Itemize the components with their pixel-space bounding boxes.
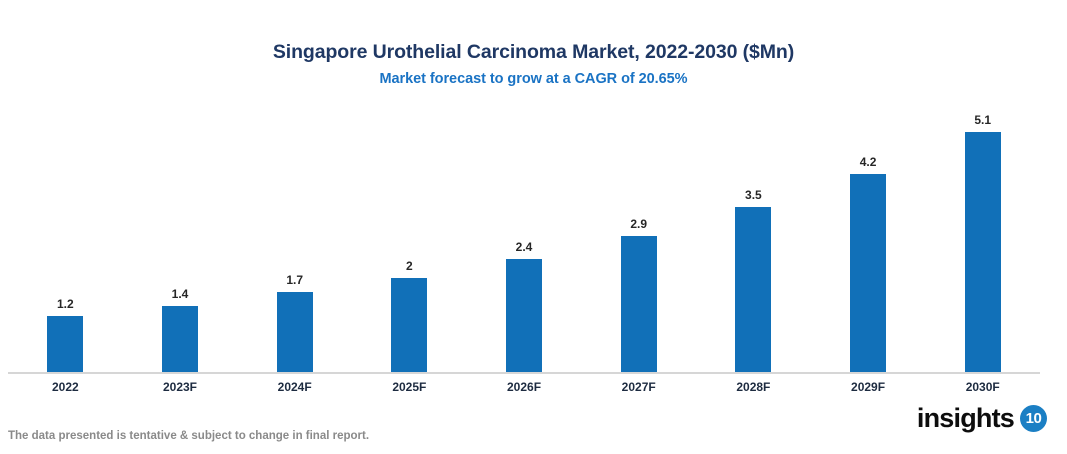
x-axis-tick: 2029F <box>811 378 926 396</box>
bar-rect <box>850 174 886 372</box>
bar-value-label: 1.2 <box>57 298 74 310</box>
x-axis-tick-label: 2027F <box>622 380 656 394</box>
bar-rect <box>965 132 1001 372</box>
bar-rect <box>621 236 657 372</box>
bar-group: 5.1 <box>925 110 1040 372</box>
x-axis-tick-label: 2026F <box>507 380 541 394</box>
bar-value-label: 2.4 <box>516 241 533 253</box>
bar-group: 1.2 <box>8 110 123 372</box>
logo-wordmark: insights <box>917 405 1014 432</box>
x-axis-tick: 2027F <box>581 378 696 396</box>
bar-group: 3.5 <box>696 110 811 372</box>
bar-series: 1.21.41.722.42.93.54.25.1 <box>8 110 1040 372</box>
bar-group: 4.2 <box>811 110 926 372</box>
bar-value-label: 2.9 <box>630 218 647 230</box>
bar-rect <box>277 292 313 372</box>
bar-value-label: 2 <box>406 260 413 272</box>
x-axis-line <box>8 372 1040 374</box>
bar-group: 2.4 <box>467 110 582 372</box>
bar-value-label: 4.2 <box>860 156 877 168</box>
bar-rect <box>391 278 427 372</box>
x-axis-tick: 2025F <box>352 378 467 396</box>
bar-value-label: 1.7 <box>286 274 303 286</box>
x-axis-tick-label: 2024F <box>278 380 312 394</box>
chart-subtitle: Market forecast to grow at a CAGR of 20.… <box>0 71 1067 87</box>
x-axis-tick-labels: 20222023F2024F2025F2026F2027F2028F2029F2… <box>8 378 1040 396</box>
x-axis-tick-label: 2022 <box>52 380 79 394</box>
disclaimer-text: The data presented is tentative & subjec… <box>8 430 369 442</box>
x-axis-tick-label: 2030F <box>966 380 1000 394</box>
x-axis-tick: 2030F <box>925 378 1040 396</box>
bar-value-label: 1.4 <box>172 288 189 300</box>
bar-group: 1.7 <box>237 110 352 372</box>
chart-title-block: Singapore Urothelial Carcinoma Market, 2… <box>0 40 1067 87</box>
bar-value-label: 3.5 <box>745 189 762 201</box>
x-axis-tick-label: 2025F <box>392 380 426 394</box>
bar-group: 2.9 <box>581 110 696 372</box>
bar-rect <box>735 207 771 372</box>
x-axis-tick: 2024F <box>237 378 352 396</box>
x-axis-tick-label: 2029F <box>851 380 885 394</box>
x-axis-tick-label: 2028F <box>736 380 770 394</box>
bar-rect <box>162 306 198 372</box>
bar-rect <box>47 316 83 372</box>
x-axis-tick: 2022 <box>8 378 123 396</box>
x-axis-tick: 2028F <box>696 378 811 396</box>
bar-group: 2 <box>352 110 467 372</box>
plot-area: 1.21.41.722.42.93.54.25.1 <box>8 110 1040 372</box>
bar-rect <box>506 259 542 372</box>
bar-group: 1.4 <box>123 110 238 372</box>
logo-badge-icon: 10 <box>1020 405 1047 432</box>
x-axis-tick: 2026F <box>467 378 582 396</box>
chart-title: Singapore Urothelial Carcinoma Market, 2… <box>0 40 1067 64</box>
chart-card: Singapore Urothelial Carcinoma Market, 2… <box>0 0 1067 454</box>
insights10-logo: insights 10 <box>917 405 1047 432</box>
bar-value-label: 5.1 <box>974 114 991 126</box>
x-axis-tick: 2023F <box>123 378 238 396</box>
x-axis-tick-label: 2023F <box>163 380 197 394</box>
